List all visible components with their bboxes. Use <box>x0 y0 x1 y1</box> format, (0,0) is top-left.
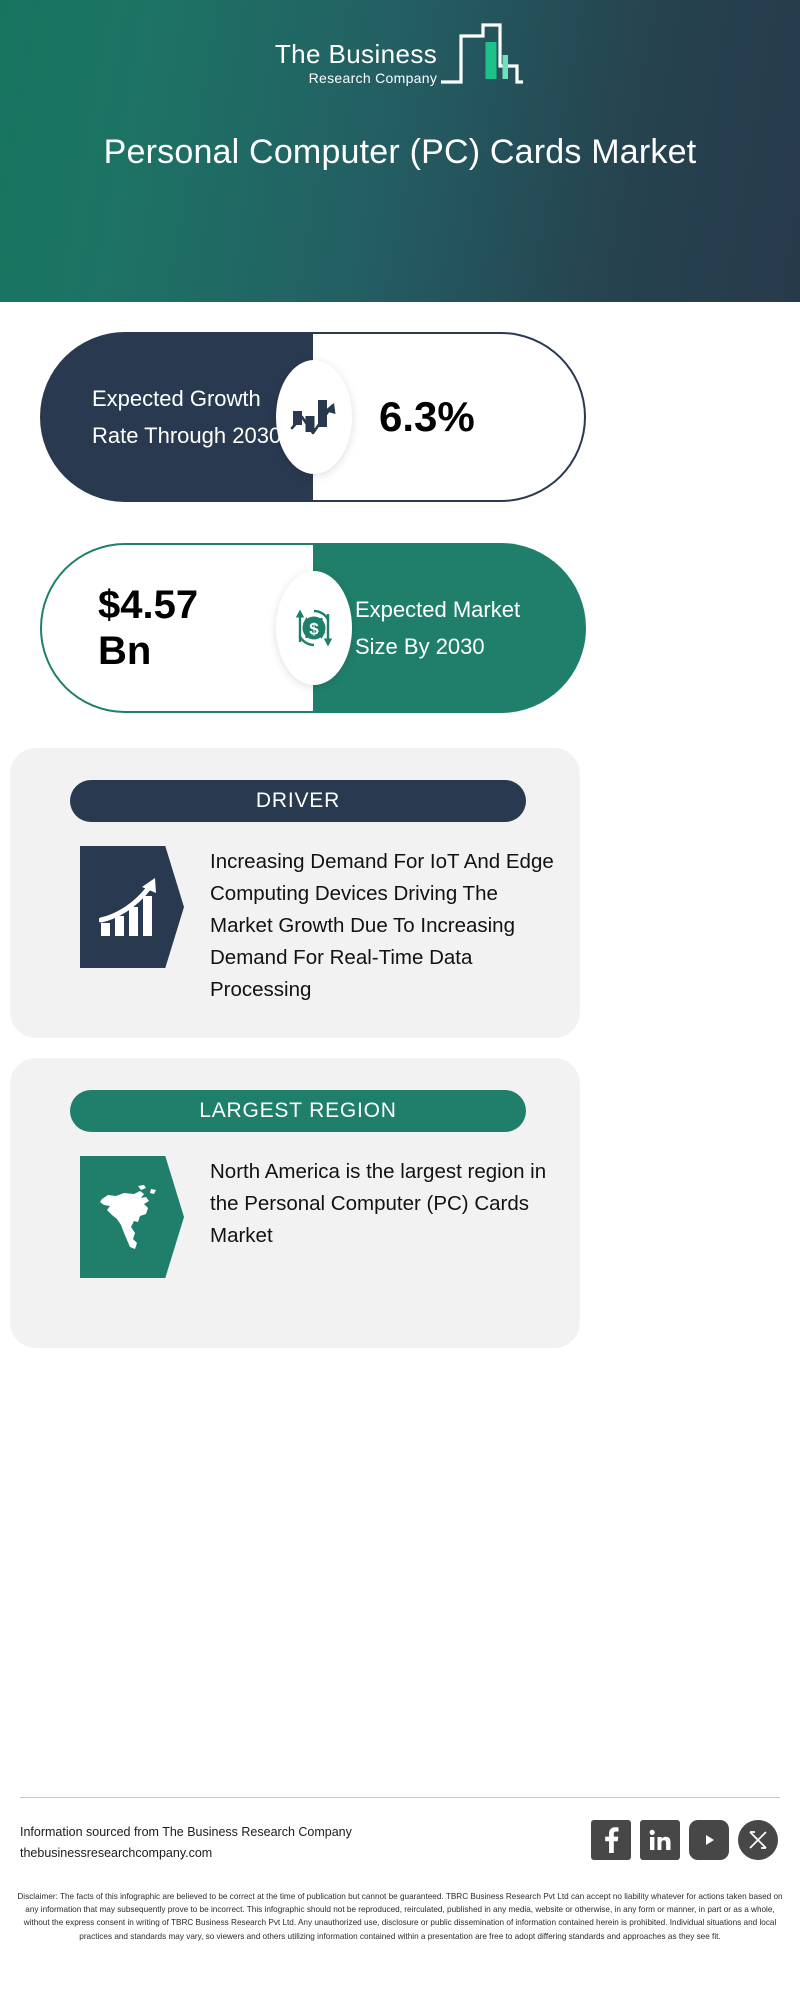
x-twitter-icon[interactable] <box>738 1820 778 1860</box>
header-banner: The Business Research Company Personal C… <box>0 0 800 302</box>
facebook-icon[interactable] <box>591 1820 631 1860</box>
page-title: Personal Computer (PC) Cards Market <box>60 128 740 176</box>
driver-pill: DRIVER <box>70 780 526 822</box>
growth-chart-arrow-icon <box>276 360 352 474</box>
disclaimer-text: Disclaimer: The facts of this infographi… <box>14 1890 786 1943</box>
driver-panel: DRIVER Increasing Demand For IoT And Edg… <box>10 748 580 1038</box>
driver-body: Increasing Demand For IoT And Edge Compu… <box>80 846 560 1006</box>
stat-value-line-2: Bn <box>98 628 198 674</box>
stat-label-text: Expected Growth Rate Through 2030 <box>40 380 313 454</box>
largest-region-pill-label: LARGEST REGION <box>199 1099 397 1123</box>
source-line-1: Information sourced from The Business Re… <box>20 1822 352 1843</box>
largest-region-pill: LARGEST REGION <box>70 1090 526 1132</box>
stat-value-panel: 6.3% <box>313 332 586 502</box>
social-links <box>591 1820 778 1860</box>
company-logo: The Business Research Company <box>0 22 800 87</box>
logo-wordmark: The Business Research Company <box>275 39 437 87</box>
driver-pill-label: DRIVER <box>256 789 340 813</box>
bar-chart-logo-icon <box>439 22 525 89</box>
stat-card-growth-rate: Expected Growth Rate Through 2030 6.3% <box>40 332 586 502</box>
stat-value-line-1: $4.57 <box>98 582 198 628</box>
stat-value-text: $4.57 Bn <box>42 582 198 674</box>
largest-region-body: North America is the largest region in t… <box>80 1156 560 1278</box>
stat-value-panel: $4.57 Bn <box>40 543 313 713</box>
logo-line-1: The Business <box>275 39 437 69</box>
svg-text:$: $ <box>309 619 319 638</box>
youtube-icon[interactable] <box>689 1820 729 1860</box>
north-america-map-icon <box>80 1156 184 1278</box>
footer-divider <box>20 1797 780 1798</box>
stat-label-text: Expected Market Size By 2030 <box>313 591 586 665</box>
driver-text: Increasing Demand For IoT And Edge Compu… <box>210 846 560 1006</box>
source-info: Information sourced from The Business Re… <box>20 1822 352 1864</box>
largest-region-panel: LARGEST REGION North America is the larg… <box>10 1058 580 1348</box>
dollar-cycle-icon: $ <box>276 571 352 685</box>
rising-bar-chart-icon <box>80 846 184 968</box>
stat-label-panel: Expected Market Size By 2030 <box>313 543 586 713</box>
linkedin-icon[interactable] <box>640 1820 680 1860</box>
source-website-link[interactable]: thebusinessresearchcompany.com <box>20 1843 352 1864</box>
stat-card-market-size: $4.57 Bn Expected Market Size By 2030 $ <box>40 543 586 713</box>
logo-line-2: Research Company <box>309 69 438 87</box>
stat-label-panel: Expected Growth Rate Through 2030 <box>40 332 313 502</box>
largest-region-text: North America is the largest region in t… <box>210 1156 560 1252</box>
